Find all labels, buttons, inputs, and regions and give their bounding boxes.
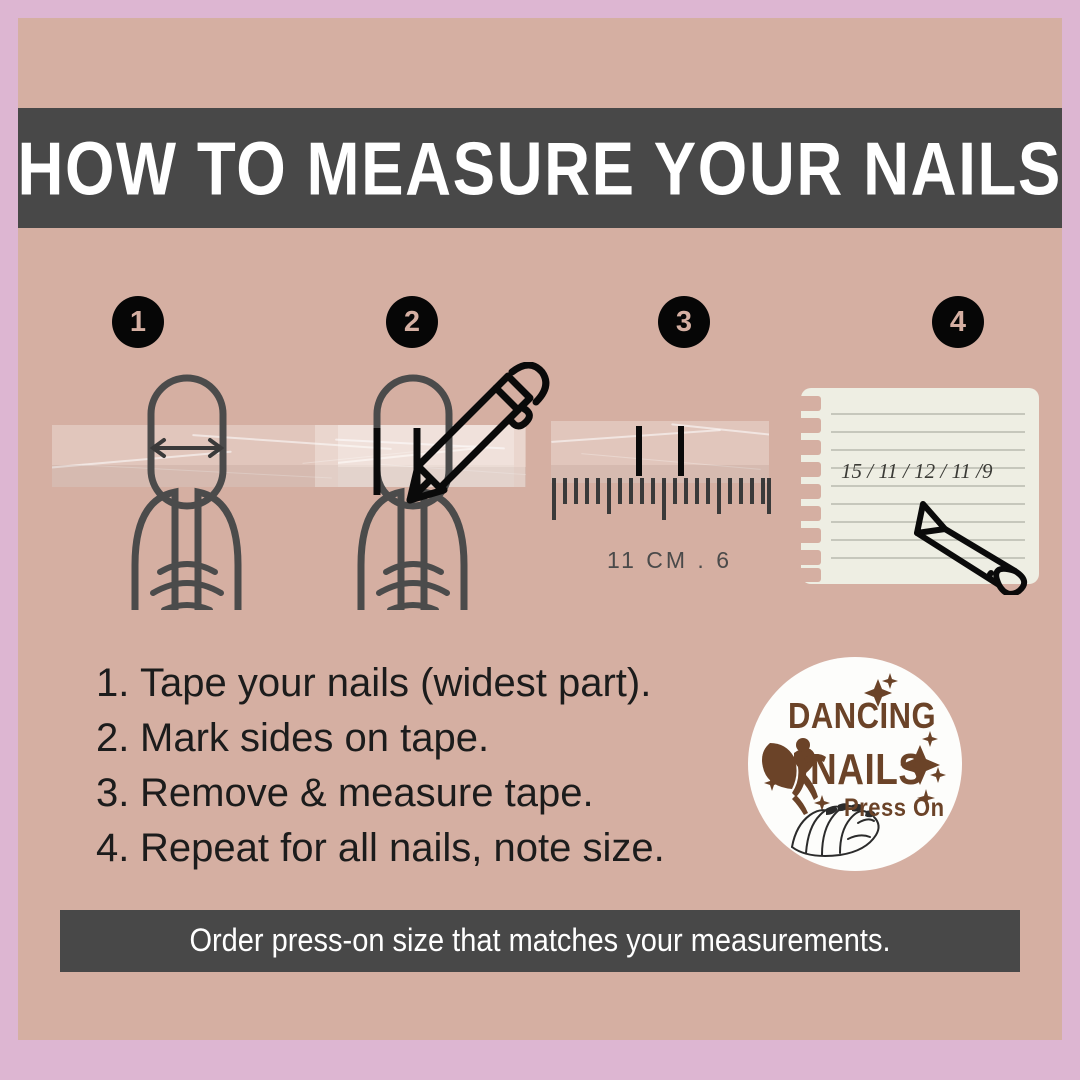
step-badge-1: 1 bbox=[112, 296, 164, 348]
logo-line-presson: Press On bbox=[844, 793, 945, 823]
list-item-number: 4. bbox=[96, 821, 140, 875]
ruler-icon-step3 bbox=[551, 476, 771, 524]
infographic-poster: HOW TO MEASURE YOUR NAILS 1 2 3 4 bbox=[0, 0, 1080, 1080]
footer-banner: Order press-on size that matches your me… bbox=[60, 910, 1020, 972]
list-item: 3. Remove & measure tape. bbox=[96, 766, 716, 820]
pencil-icon-step4 bbox=[905, 495, 1041, 595]
step-badge-2-label: 2 bbox=[404, 306, 420, 339]
page-title: HOW TO MEASURE YOUR NAILS bbox=[18, 125, 1062, 212]
measurement-caption: 11 CM . 6 bbox=[607, 547, 732, 574]
list-item: 1. Tape your nails (widest part). bbox=[96, 656, 716, 710]
step-badge-3: 3 bbox=[658, 296, 710, 348]
list-item-text: Mark sides on tape. bbox=[140, 711, 489, 765]
list-item: 2. Mark sides on tape. bbox=[96, 711, 716, 765]
instruction-list: 1. Tape your nails (widest part). 2. Mar… bbox=[96, 656, 716, 876]
step-badge-4-label: 4 bbox=[950, 306, 966, 339]
step-badge-4: 4 bbox=[932, 296, 984, 348]
step-badge-1-label: 1 bbox=[130, 306, 146, 339]
list-item: 4. Repeat for all nails, note size. bbox=[96, 821, 716, 875]
title-banner: HOW TO MEASURE YOUR NAILS bbox=[18, 108, 1062, 228]
finger-diagram-step1 bbox=[120, 360, 320, 610]
list-item-number: 3. bbox=[96, 766, 140, 820]
list-item-number: 2. bbox=[96, 711, 140, 765]
step-badge-3-label: 3 bbox=[676, 306, 692, 339]
pencil-icon-step2 bbox=[400, 362, 550, 522]
brand-logo: DANCING NAILS Press On bbox=[748, 657, 962, 871]
list-item-text: Remove & measure tape. bbox=[140, 766, 594, 820]
list-item-text: Repeat for all nails, note size. bbox=[140, 821, 665, 875]
notepad-written-sizes: 15 / 11 / 12 / 11 /9 bbox=[841, 459, 1041, 484]
logo-line-nails: NAILS bbox=[810, 745, 924, 795]
list-item-text: Tape your nails (widest part). bbox=[140, 656, 651, 710]
logo-line-dancing: DANCING bbox=[788, 695, 936, 737]
step-badge-2: 2 bbox=[386, 296, 438, 348]
list-item-number: 1. bbox=[96, 656, 140, 710]
footer-note: Order press-on size that matches your me… bbox=[189, 923, 890, 960]
